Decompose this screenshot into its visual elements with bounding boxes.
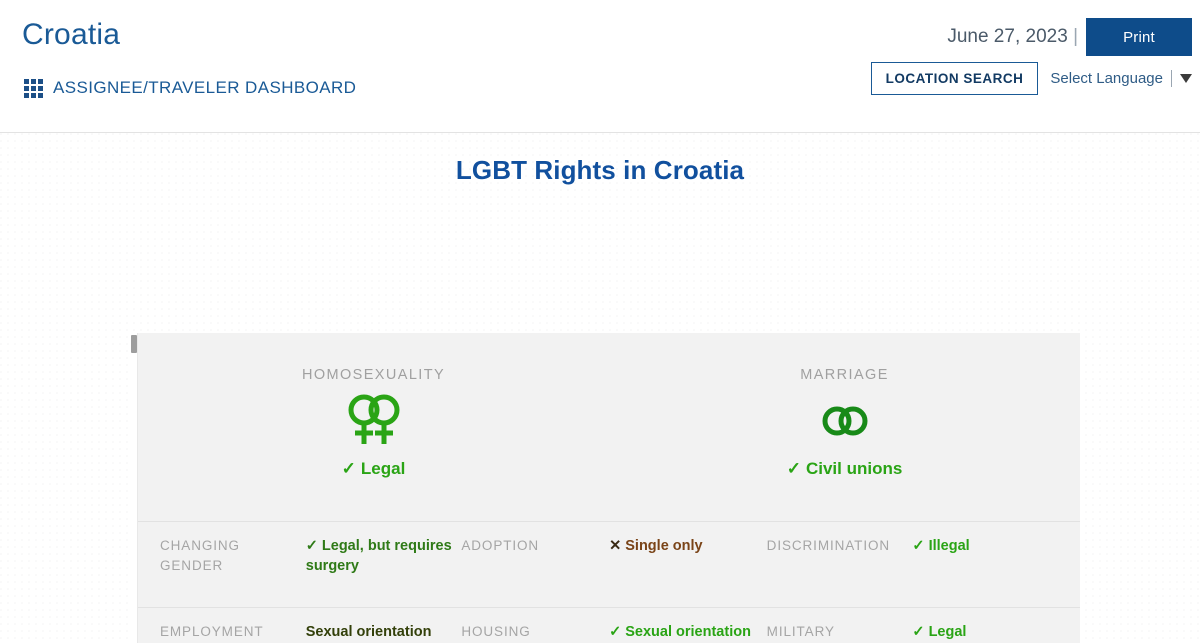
- rights-card: HOMOSEXUALITY: [138, 333, 1080, 643]
- rights-table: CHANGING GENDER ✓Legal, but requires sur…: [138, 521, 1080, 643]
- double-venus-icon: [339, 393, 409, 449]
- hero-label: HOMOSEXUALITY: [302, 367, 445, 383]
- row-label: EMPLOYMENT DISCRIMINATION: [160, 622, 306, 643]
- row-label: CHANGING GENDER: [160, 536, 306, 576]
- table-row: EMPLOYMENT DISCRIMINATION Sexual orienta…: [138, 607, 1080, 643]
- section-title: LGBT Rights in Croatia: [0, 133, 1200, 186]
- language-divider: [1171, 70, 1172, 87]
- dashboard-link[interactable]: ASSIGNEE/TRAVELER DASHBOARD: [24, 78, 356, 98]
- row-value-text: Illegal: [929, 538, 970, 554]
- row-value-text: Legal: [929, 624, 967, 640]
- row-label: HOUSING DISCRIMINATION: [461, 622, 609, 643]
- dashboard-label: ASSIGNEE/TRAVELER DASHBOARD: [53, 78, 356, 98]
- row-label: MILITARY: [767, 622, 835, 642]
- date-text: June 27, 2023: [947, 26, 1067, 47]
- page-header: Croatia ASSIGNEE/TRAVELER DASHBOARD June…: [0, 0, 1200, 133]
- check-icon: ✓: [306, 538, 318, 554]
- header-right: June 27, 2023 | Print LOCATION SEARCH Se…: [780, 0, 1200, 133]
- row-value: ✕Single only: [609, 536, 703, 556]
- scrollbar-thumb[interactable]: [131, 335, 137, 353]
- date-and-print: June 27, 2023 | Print: [947, 18, 1200, 56]
- header-sub-row: LOCATION SEARCH Select Language: [871, 62, 1192, 95]
- row-value: ✓Legal: [912, 622, 966, 642]
- hero-value-row: ✓ Civil unions: [787, 459, 903, 479]
- row-value-text: Single only: [625, 538, 702, 554]
- date-separator: |: [1073, 26, 1078, 47]
- current-date: June 27, 2023 |: [947, 18, 1086, 56]
- hero-value-row: ✓ Legal: [342, 459, 406, 479]
- table-row: CHANGING GENDER ✓Legal, but requires sur…: [138, 521, 1080, 607]
- row-value-text: Sexual orientation only: [306, 624, 432, 643]
- hero-value: Civil unions: [806, 459, 902, 479]
- check-icon: ✓: [609, 624, 621, 640]
- row-value: Sexual orientation only: [306, 622, 462, 643]
- content-area: LGBT Rights in Croatia HOMOSEXUALITY: [0, 133, 1200, 643]
- hero-marriage: MARRIAGE ✓ Civil unions: [609, 367, 1080, 521]
- hero-label: MARRIAGE: [800, 367, 889, 383]
- row-value-text: Legal, but requires surgery: [306, 538, 452, 574]
- check-icon: ✓: [342, 459, 356, 479]
- select-language-label: Select Language: [1050, 70, 1163, 87]
- check-icon: ✓: [787, 459, 801, 479]
- chevron-down-icon[interactable]: [1180, 74, 1192, 83]
- row-value: ✓Legal, but requires surgery: [306, 536, 462, 576]
- print-button[interactable]: Print: [1086, 18, 1192, 56]
- check-icon: ✓: [912, 624, 924, 640]
- hero-section: HOMOSEXUALITY: [138, 333, 1080, 521]
- hero-value: Legal: [361, 459, 405, 479]
- row-value: ✓Sexual orientation and gender identity: [609, 622, 767, 643]
- cross-icon: ✕: [609, 538, 621, 554]
- interlocking-rings-icon: [810, 393, 880, 449]
- page-title: Croatia: [22, 18, 120, 51]
- hero-homosexuality: HOMOSEXUALITY: [138, 367, 609, 521]
- row-value-text: Sexual orientation and gender identity: [609, 624, 751, 643]
- vertical-scrollbar[interactable]: [130, 333, 138, 643]
- location-search-button[interactable]: LOCATION SEARCH: [871, 62, 1039, 95]
- grid-icon: [24, 79, 43, 98]
- row-value: ✓Illegal: [912, 536, 969, 556]
- language-selector[interactable]: Select Language: [1050, 70, 1192, 87]
- row-label: DISCRIMINATION: [767, 536, 890, 556]
- row-label: ADOPTION: [461, 536, 539, 556]
- rights-card-wrapper: HOMOSEXUALITY: [130, 333, 1080, 643]
- check-icon: ✓: [912, 538, 924, 554]
